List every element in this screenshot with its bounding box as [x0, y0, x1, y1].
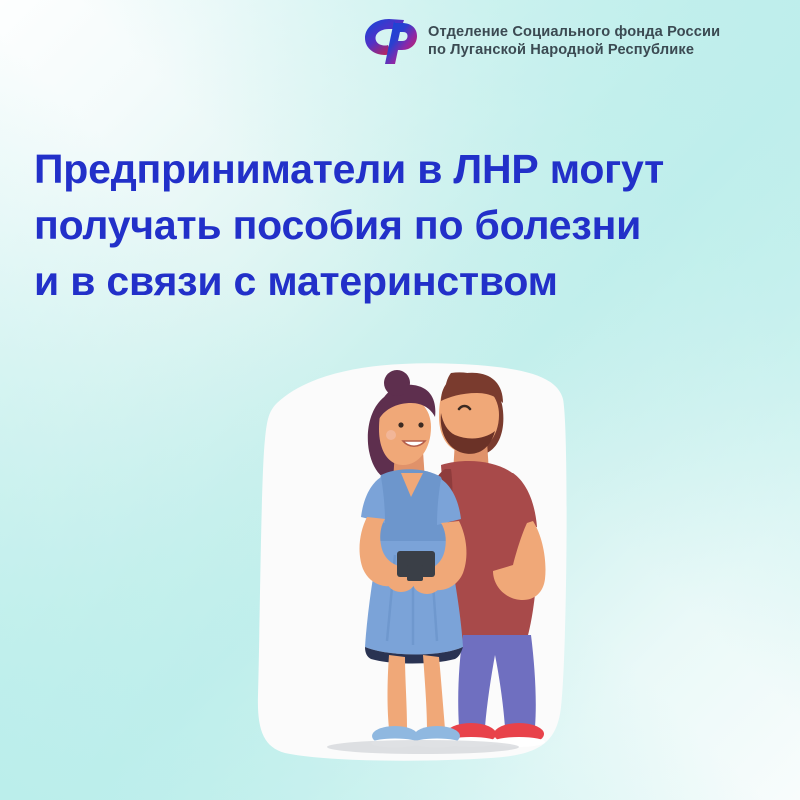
woman-leg-left — [388, 655, 408, 729]
org-line-1: Отделение Социального фонда России — [428, 23, 720, 41]
sfr-logo-icon — [358, 14, 418, 68]
poster-canvas: Отделение Социального фонда России по Лу… — [0, 0, 800, 800]
org-line-2: по Луганской Народной Республике — [428, 41, 720, 59]
headline-line-3: и в связи с материнством — [34, 254, 774, 310]
smartphone-body — [407, 565, 423, 581]
headline-line-2: получать пособия по болезни — [34, 198, 774, 254]
woman-eye-left — [398, 422, 403, 427]
page-title: Предприниматели в ЛНР могут получать пос… — [34, 142, 774, 309]
organization-name: Отделение Социального фонда России по Лу… — [428, 23, 720, 59]
couple-illustration — [255, 355, 575, 770]
woman-cheek — [386, 430, 396, 440]
organization-header: Отделение Социального фонда России по Лу… — [358, 14, 720, 68]
woman-hair-bun — [384, 370, 410, 396]
ground-shadow — [327, 740, 519, 754]
woman-eye-right — [418, 422, 423, 427]
headline-line-1: Предприниматели в ЛНР могут — [34, 142, 774, 198]
